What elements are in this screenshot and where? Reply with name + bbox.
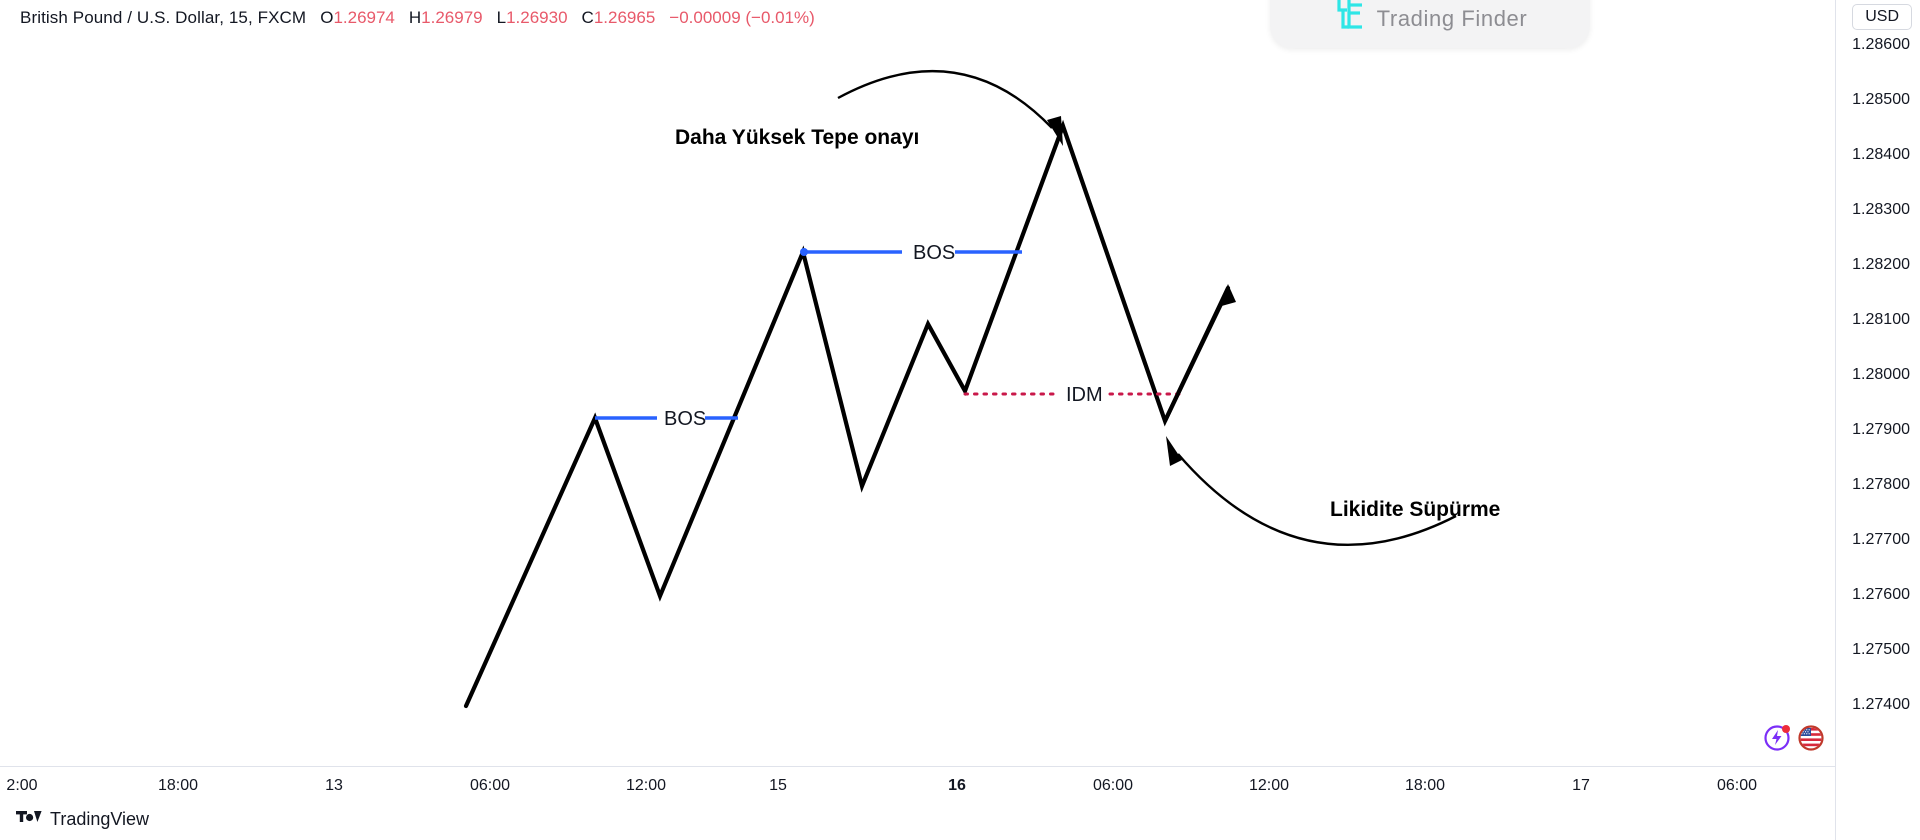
chart-plot-area[interactable]: BOS BOS IDM: [0, 36, 1836, 766]
time-tick: 18:00: [1405, 777, 1445, 795]
price-tick: 1.28400: [1852, 146, 1910, 164]
ohlc-open-value: 1.26974: [333, 8, 394, 27]
time-tick: 12:00: [626, 777, 666, 795]
ohlc-low: L1.26930: [497, 8, 568, 28]
chart-legend-bar[interactable]: British Pound / U.S. Dollar, 15, FXCM O1…: [0, 0, 1920, 36]
tradingview-logo-icon: [16, 808, 42, 831]
ohlc-close: C1.26965: [582, 8, 656, 28]
liquidity-sweep-arrow-icon: [1166, 436, 1456, 545]
time-tick: 06:00: [1093, 777, 1133, 795]
bos-lower-marker: BOS: [595, 408, 738, 430]
price-tick: 1.27900: [1852, 421, 1910, 439]
price-tick: 1.28300: [1852, 201, 1910, 219]
ohlc-high: H1.26979: [409, 8, 483, 28]
bos-upper-label: BOS: [913, 242, 955, 264]
ohlc-open-key: O: [320, 8, 333, 27]
time-tick: 06:00: [1717, 777, 1757, 795]
price-tick: 1.27700: [1852, 531, 1910, 549]
price-tick: 1.28600: [1852, 36, 1910, 54]
time-tick: 06:00: [470, 777, 510, 795]
time-tick-session-start: 16: [948, 777, 966, 795]
time-tick: 18:00: [158, 777, 198, 795]
ohlc-high-value: 1.26979: [421, 8, 482, 27]
us-flag-badge-icon[interactable]: [1796, 722, 1826, 757]
time-tick: 15: [769, 777, 787, 795]
replay-lightning-badge-icon[interactable]: [1762, 722, 1792, 757]
price-tick: 1.28000: [1852, 366, 1910, 384]
price-tick: 1.28100: [1852, 311, 1910, 329]
idm-marker: IDM: [965, 384, 1183, 406]
tradingview-footer[interactable]: TradingView: [16, 808, 149, 831]
time-tick: 13: [325, 777, 343, 795]
chart-status-badges[interactable]: [1762, 722, 1826, 757]
time-tick: 2:00: [6, 777, 37, 795]
price-tick: 1.27500: [1852, 641, 1910, 659]
idm-label: IDM: [1066, 384, 1103, 406]
price-axis[interactable]: USD 1.28600 1.28500 1.28400 1.28300 1.28…: [1835, 0, 1920, 840]
price-tick: 1.28500: [1852, 91, 1910, 109]
time-tick: 12:00: [1249, 777, 1289, 795]
price-line-series: [466, 126, 1228, 706]
price-tick: 1.27600: [1852, 586, 1910, 604]
price-change: −0.00009 (−0.01%): [669, 8, 815, 28]
bullish-projection-arrow-icon: [1165, 284, 1236, 421]
price-tick: 1.28200: [1852, 256, 1910, 274]
annotation-higher-high-confirmation: Daha Yüksek Tepe onayı: [675, 126, 919, 150]
ohlc-high-key: H: [409, 8, 421, 27]
price-tick: 1.27400: [1852, 696, 1910, 714]
bos-upper-marker: BOS: [800, 242, 1022, 264]
price-tick: 1.27800: [1852, 476, 1910, 494]
time-tick: 17: [1572, 777, 1590, 795]
chart-screen: British Pound / U.S. Dollar, 15, FXCM O1…: [0, 0, 1920, 840]
bos-lower-label: BOS: [664, 408, 706, 430]
ohlc-low-value: 1.26930: [506, 8, 567, 27]
ohlc-open: O1.26974: [320, 8, 395, 28]
ohlc-close-value: 1.26965: [594, 8, 655, 27]
annotation-liquidity-sweep: Likidite Süpürme: [1330, 498, 1500, 522]
ohlc-close-key: C: [582, 8, 594, 27]
ohlc-low-key: L: [497, 8, 506, 27]
symbol-title[interactable]: British Pound / U.S. Dollar, 15, FXCM: [20, 8, 306, 28]
time-axis[interactable]: 2:00 18:00 13 06:00 12:00 15 16 06:00 12…: [0, 766, 1836, 807]
tradingview-label: TradingView: [50, 809, 149, 830]
